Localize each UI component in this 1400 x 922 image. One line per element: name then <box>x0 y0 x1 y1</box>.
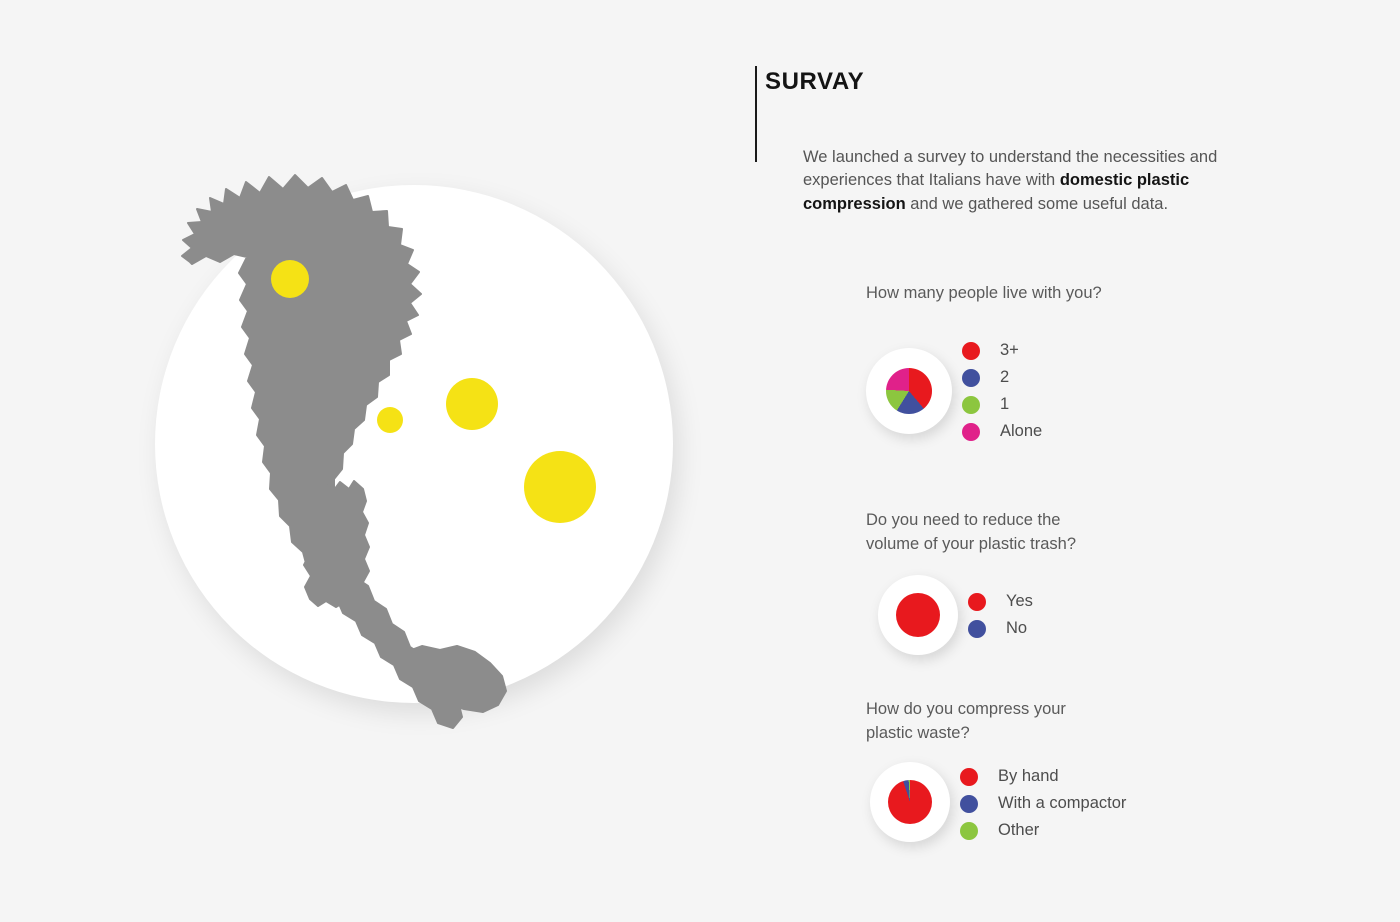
italy-map <box>150 160 710 740</box>
pie-chart-household-size[interactable] <box>886 368 932 414</box>
intro-text-after: and we gathered some useful data. <box>906 195 1168 213</box>
legend-household-size: 3+ 2 1 Alone <box>962 337 1042 445</box>
legend-label: 3+ <box>1000 341 1019 360</box>
legend-need-volume-reduction: Yes No <box>968 588 1033 642</box>
question-title-household-size: How many people live with you? <box>866 281 1226 305</box>
legend-item[interactable]: Other <box>960 817 1126 844</box>
legend-label: Other <box>998 821 1039 840</box>
pie-chart-need-volume-reduction[interactable] <box>896 593 940 637</box>
legend-label: No <box>1006 619 1027 638</box>
question-title-need-volume-reduction: Do you need to reduce the volume of your… <box>866 508 1116 556</box>
legend-swatch-icon <box>962 369 980 387</box>
legend-item[interactable]: 1 <box>962 391 1042 418</box>
legend-swatch-icon <box>962 423 980 441</box>
legend-swatch-icon <box>962 342 980 360</box>
map-bubble-center-east[interactable] <box>446 378 498 430</box>
legend-swatch-icon <box>960 822 978 840</box>
legend-item[interactable]: By hand <box>960 763 1126 790</box>
legend-compression-method: By hand With a compactor Other <box>960 763 1126 844</box>
legend-item[interactable]: 2 <box>962 364 1042 391</box>
legend-item[interactable]: With a compactor <box>960 790 1126 817</box>
legend-item[interactable]: No <box>968 615 1033 642</box>
page-title: SURVAY <box>765 68 864 96</box>
map-panel <box>0 0 740 922</box>
legend-label: By hand <box>998 767 1059 786</box>
legend-item[interactable]: Alone <box>962 418 1042 445</box>
legend-label: 1 <box>1000 395 1009 414</box>
legend-swatch-icon <box>960 795 978 813</box>
legend-swatch-icon <box>968 620 986 638</box>
legend-swatch-icon <box>962 396 980 414</box>
survey-panel: SURVAY We launched a survey to understan… <box>740 0 1400 922</box>
legend-item[interactable]: Yes <box>968 588 1033 615</box>
legend-label: With a compactor <box>998 794 1126 813</box>
legend-label: Yes <box>1006 592 1033 611</box>
legend-label: 2 <box>1000 368 1009 387</box>
question-title-compression-method: How do you compress your plastic waste? <box>866 697 1111 745</box>
map-bubble-north[interactable] <box>271 260 309 298</box>
intro-paragraph: We launched a survey to understand the n… <box>803 146 1218 217</box>
map-bubble-center-west[interactable] <box>377 407 403 433</box>
title-accent-rule <box>755 66 757 162</box>
legend-label: Alone <box>1000 422 1042 441</box>
map-bubble-south[interactable] <box>524 451 596 523</box>
legend-item[interactable]: 3+ <box>962 337 1042 364</box>
pie-chart-compression-method[interactable] <box>888 780 932 824</box>
legend-swatch-icon <box>960 768 978 786</box>
legend-swatch-icon <box>968 593 986 611</box>
